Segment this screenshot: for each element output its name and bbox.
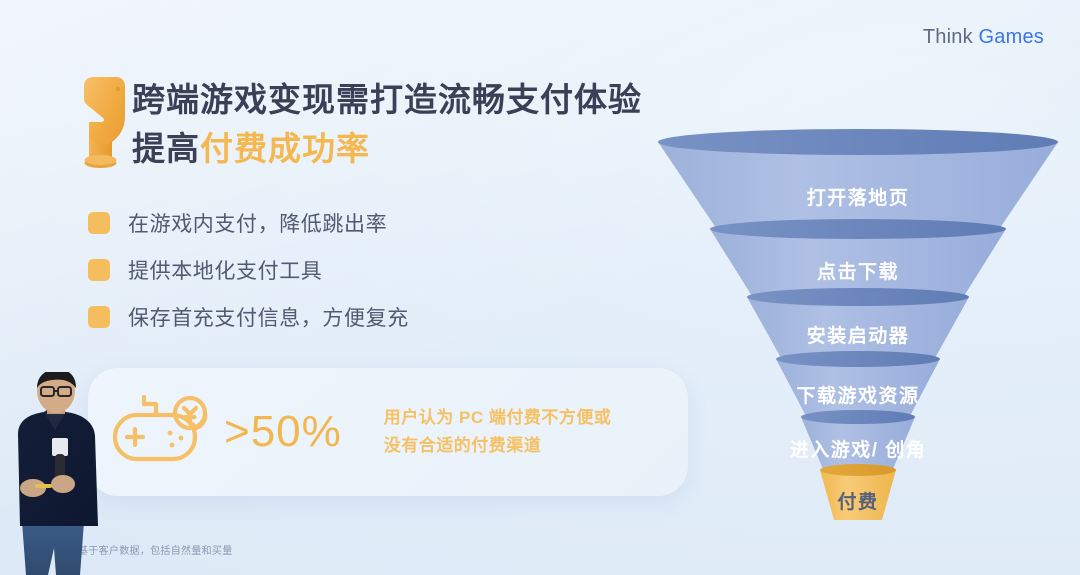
stat-description-line-1: 用户认为 PC 端付费不方便或 — [384, 404, 612, 432]
bullet-label: 提供本地化支付工具 — [128, 255, 322, 285]
list-item: 保存首充支付信息，方便复充 — [88, 296, 409, 338]
knight-chess-piece-icon — [76, 76, 128, 178]
title-line-2-accent: 付费成功率 — [200, 130, 370, 167]
funnel-stage-2: 点击下载 — [710, 219, 1006, 296]
funnel-stage-1: 打开落地页 — [658, 129, 1058, 228]
page-title: 跨端游戏变现需打造流畅支付体验 提高付费成功率 — [132, 75, 702, 173]
bullet-square-icon — [88, 212, 110, 234]
gamepad-yen-refresh-icon — [110, 392, 218, 472]
logo-word-games: Games — [979, 26, 1044, 48]
funnel-stage-4-label: 下载游戏资源 — [796, 384, 919, 407]
stat-description: 用户认为 PC 端付费不方便或 没有合适的付费渠道 — [384, 404, 612, 460]
title-line-1: 跨端游戏变现需打造流畅支付体验 — [132, 75, 702, 124]
think-games-logo: Think Games — [923, 26, 1044, 49]
funnel-stage-3-label: 安装启动器 — [807, 324, 910, 347]
title-line-2: 提高付费成功率 — [132, 124, 702, 173]
list-item: 提供本地化支付工具 — [88, 249, 409, 291]
funnel-stage-3: 安装启动器 — [747, 288, 969, 358]
funnel-stage-5-label: 进入游戏/ 创角 — [790, 438, 927, 461]
slide-canvas: Think Games 跨端游戏变现需打造流畅支付体验 提高付费成功率 — [0, 0, 1080, 575]
presenter-figure — [0, 372, 118, 575]
funnel-stage-6: 付费 — [820, 464, 896, 520]
bullet-label: 保存首充支付信息，方便复充 — [128, 302, 409, 332]
stat-description-line-2: 没有合适的付费渠道 — [384, 432, 612, 460]
bullet-square-icon — [88, 306, 110, 328]
funnel-stage-2-label: 点击下载 — [817, 260, 899, 283]
bullet-square-icon — [88, 259, 110, 281]
stat-percent-value: >50% — [224, 407, 342, 457]
funnel-stage-6-label: 付费 — [837, 490, 878, 513]
logo-word-think: Think — [923, 26, 973, 48]
stat-card: >50% 用户认为 PC 端付费不方便或 没有合适的付费渠道 — [88, 368, 688, 496]
bullet-label: 在游戏内支付，降低跳出率 — [128, 208, 387, 238]
bullet-list: 在游戏内支付，降低跳出率 提供本地化支付工具 保存首充支付信息，方便复充 — [88, 202, 409, 343]
funnel-stage-5: 进入游戏/ 创角 — [790, 410, 927, 469]
conversion-funnel-chart: 打开落地页 点击下载 安装启动器 下载游戏资源 进入游戏/ 创角 — [648, 128, 1068, 528]
funnel-stage-4: 下载游戏资源 — [776, 351, 940, 416]
funnel-stage-1-label: 打开落地页 — [807, 186, 910, 209]
list-item: 在游戏内支付，降低跳出率 — [88, 202, 409, 244]
title-line-2-plain: 提高 — [132, 130, 200, 167]
